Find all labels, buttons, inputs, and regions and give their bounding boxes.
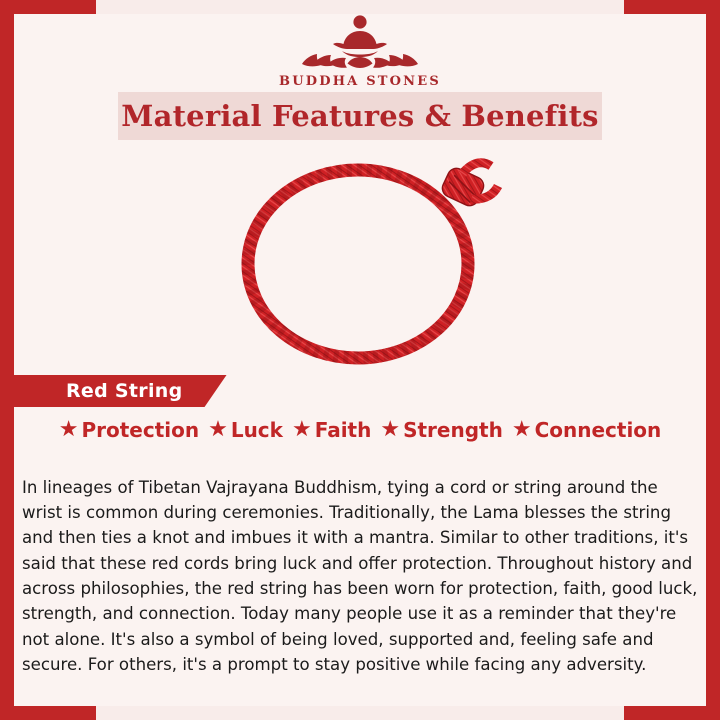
lotus-meditation-icon (300, 10, 420, 72)
benefit-label: Protection (81, 418, 199, 442)
benefit-item: ★ Luck (208, 418, 283, 442)
benefit-item: ★ Strength (380, 418, 502, 442)
star-icon: ★ (59, 419, 79, 441)
frame-edge-right (706, 96, 720, 624)
benefit-label: Faith (315, 418, 372, 442)
benefit-label: Strength (403, 418, 503, 442)
red-braided-string-bracelet-icon (210, 154, 510, 366)
benefit-label: Luck (231, 418, 283, 442)
benefit-item: ★ Connection (512, 418, 661, 442)
brand-name: BUDDHA STONES (0, 74, 720, 89)
benefit-item: ★ Protection (59, 418, 199, 442)
star-icon: ★ (512, 419, 532, 441)
star-icon: ★ (292, 419, 312, 441)
frame-corner-bottom-left-horizontal (0, 706, 96, 720)
page-title: Material Features & Benefits (121, 99, 598, 133)
title-banner: Material Features & Benefits (118, 92, 602, 140)
brand-logo: BUDDHA STONES (0, 10, 720, 89)
benefit-item: ★ Faith (292, 418, 371, 442)
product-tag-label: Red String (66, 380, 183, 402)
benefits-list: ★ Protection ★ Luck ★ Faith ★ Strength ★… (14, 418, 706, 442)
frame-edge-left (0, 96, 14, 624)
product-tag: Red String (14, 375, 227, 407)
description-text: In lineages of Tibetan Vajrayana Buddhis… (22, 475, 698, 678)
frame-corner-bottom-left-vertical (0, 624, 14, 720)
infographic-page: BUDDHA STONES Material Features & Benefi… (0, 0, 720, 720)
product-image-area (14, 148, 706, 370)
star-icon: ★ (380, 419, 400, 441)
star-icon: ★ (208, 419, 228, 441)
benefit-label: Connection (535, 418, 662, 442)
frame-corner-bottom-right-vertical (706, 624, 720, 720)
